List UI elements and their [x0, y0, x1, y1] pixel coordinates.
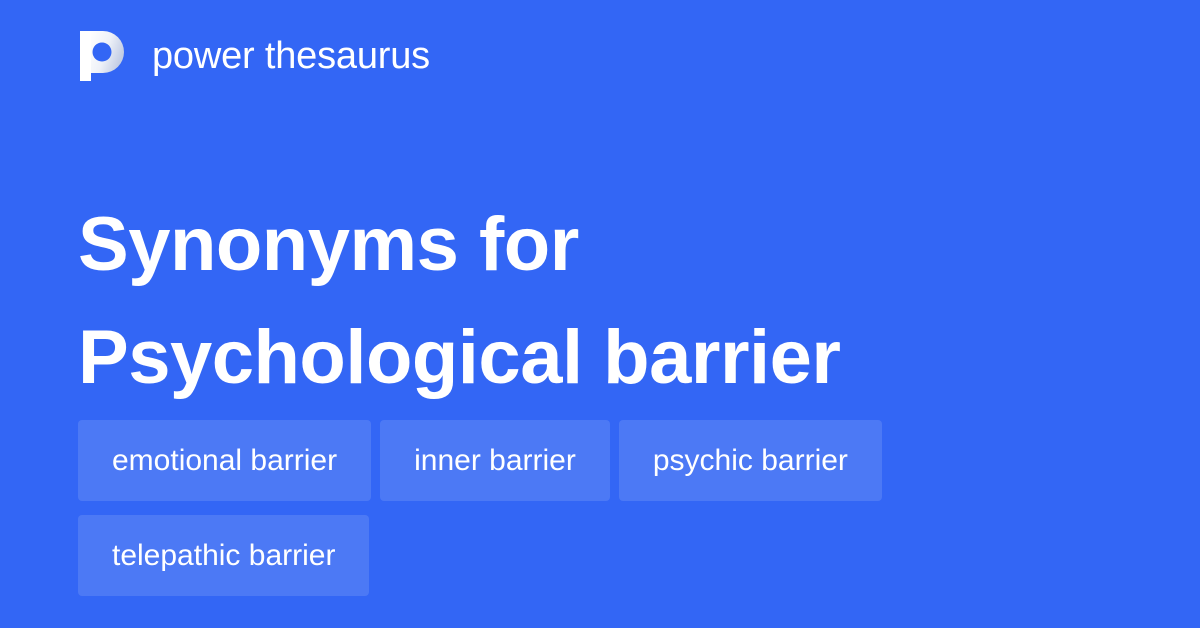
- synonyms-share-card: power thesaurus Synonyms for Psychologic…: [0, 0, 1200, 628]
- page-title: Synonyms for Psychological barrier: [78, 188, 1118, 414]
- synonym-chip[interactable]: telepathic barrier: [78, 515, 369, 596]
- synonym-chip[interactable]: emotional barrier: [78, 420, 371, 501]
- brand-name: power thesaurus: [152, 37, 430, 75]
- page-title-line-1: Synonyms for: [78, 188, 1118, 301]
- synonym-chip[interactable]: psychic barrier: [619, 420, 882, 501]
- page-title-line-2: Psychological barrier: [78, 301, 1118, 414]
- synonym-chip-list: emotional barrier inner barrier psychic …: [78, 420, 1128, 596]
- synonym-chip[interactable]: inner barrier: [380, 420, 610, 501]
- power-thesaurus-b-logo-icon: [80, 31, 124, 81]
- brand-header: power thesaurus: [80, 28, 430, 84]
